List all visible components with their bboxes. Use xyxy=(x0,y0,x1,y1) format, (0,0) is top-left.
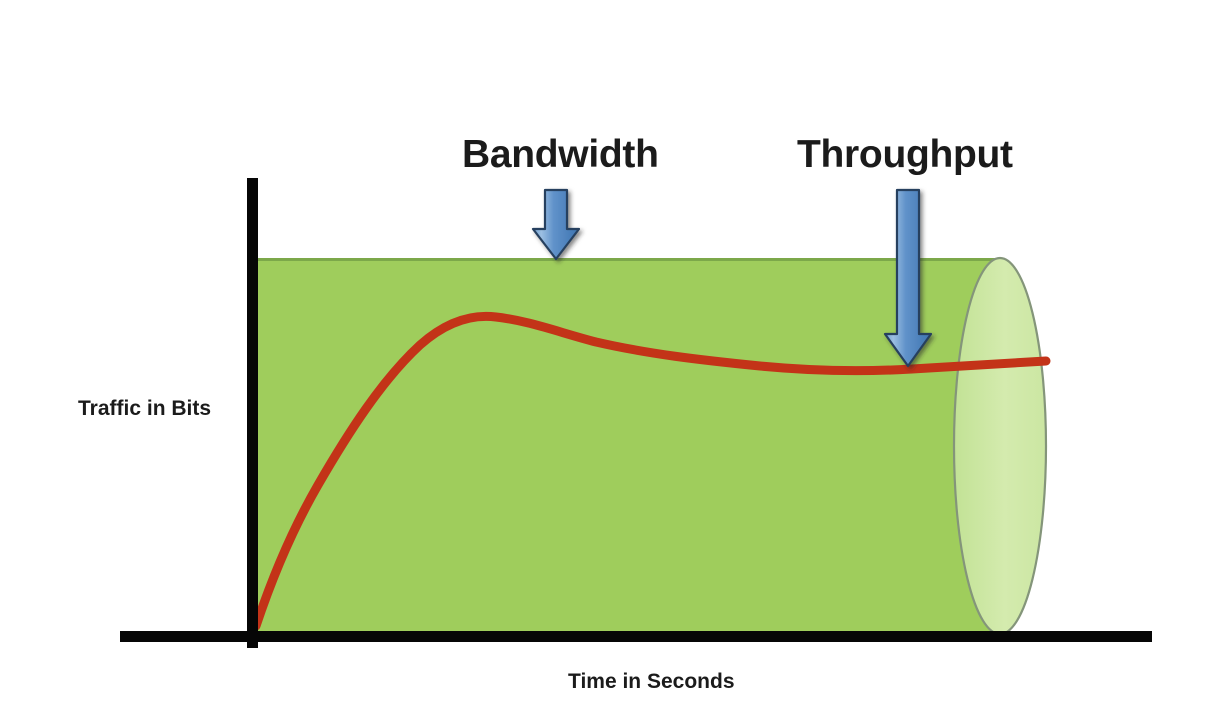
bandwidth-arrow xyxy=(533,190,579,259)
pipe-end-cap xyxy=(954,258,1046,634)
bandwidth-label: Bandwidth xyxy=(462,133,659,177)
y-axis-line xyxy=(247,178,258,648)
throughput-label: Throughput xyxy=(797,133,1013,177)
diagram-canvas: Bandwidth Throughput Traffic in Bits Tim… xyxy=(0,0,1222,720)
y-axis-label: Traffic in Bits xyxy=(78,396,211,421)
x-axis-line xyxy=(120,631,1152,642)
bandwidth-throughput-diagram xyxy=(0,0,1222,720)
bandwidth-arrow-shape xyxy=(533,190,579,259)
pipe-body xyxy=(258,258,1002,634)
x-axis-label: Time in Seconds xyxy=(568,669,735,694)
bandwidth-pipe xyxy=(258,258,1046,634)
